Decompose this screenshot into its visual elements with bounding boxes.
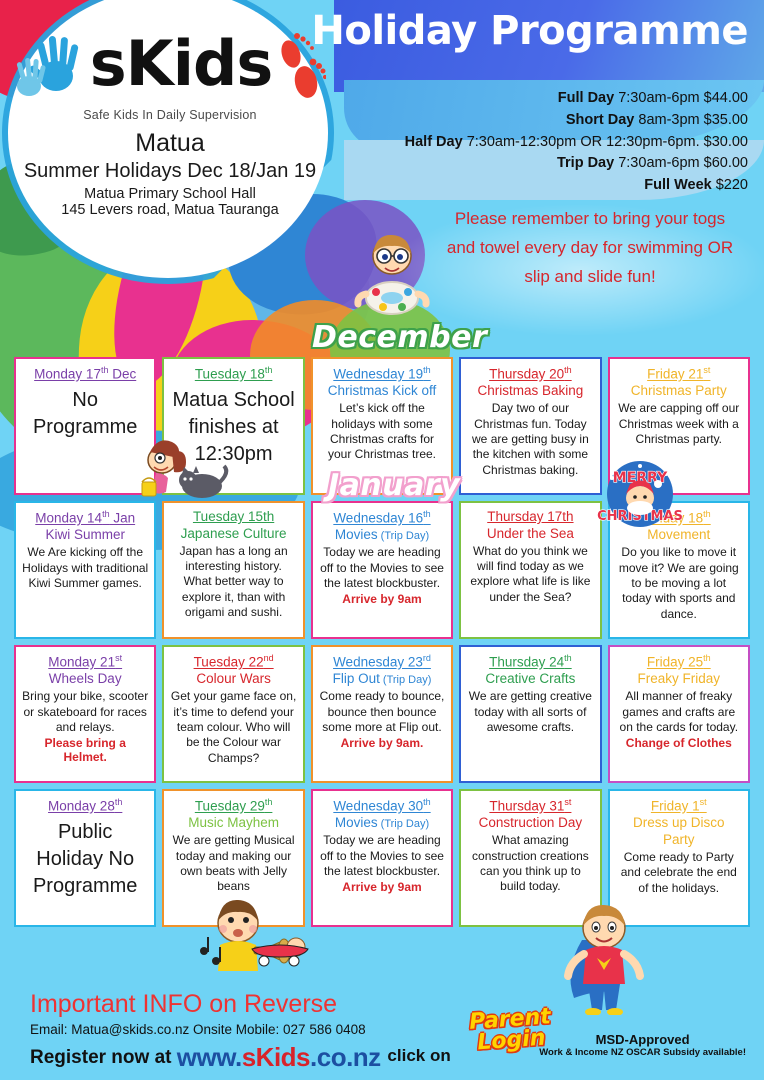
cell-activity-title: Colour Wars (170, 671, 296, 688)
season-line: Summer Holidays Dec 18/Jan 19 (0, 160, 340, 183)
cell-title-text: Christmas Baking (477, 383, 583, 398)
cell-description: We Are kicking off the Holidays with tra… (22, 545, 148, 591)
cell-description: All manner of freaky games and crafts ar… (616, 689, 742, 735)
cell-date-text: Tuesday 15th (193, 509, 274, 524)
price-label: Half Day (405, 134, 463, 150)
cell-title-text: Christmas Kick off (328, 383, 437, 398)
cell-date-text: Monday 28 (48, 799, 115, 814)
calendar-cell[interactable]: Tuesday 22ndColour WarsGet your game fac… (162, 645, 304, 783)
cell-activity-title: Kiwi Summer (22, 527, 148, 544)
cell-date: Friday 25th (616, 653, 742, 671)
cell-date-text: Wednesday 23 (333, 655, 423, 670)
cell-date-ordinal: th (265, 365, 273, 375)
cell-activity-title: Dress up Disco Party (616, 815, 742, 849)
contact-email-text: Email: Matua@skids.co.nz Onsite Mobile: … (30, 1022, 366, 1037)
cell-date-ordinal: nd (264, 653, 274, 663)
cell-date: Thursday 17th (467, 509, 593, 526)
cell-description: Come ready to bounce, bounce then bounce… (319, 689, 445, 735)
cell-date: Wednesday 19th (319, 365, 445, 383)
price-label: Full Week (644, 177, 711, 193)
cell-date-text: Wednesday 16 (333, 511, 423, 526)
price-list: Full Day 7:30am-6pm $44.00Short Day 8am-… (405, 88, 748, 197)
cell-description: Today we are heading off to the Movies t… (319, 833, 445, 879)
cell-title-text: Christmas Party (631, 383, 727, 398)
cell-date-ordinal: st (700, 797, 707, 807)
cell-title-text: Creative Crafts (485, 671, 575, 686)
cell-date-text: Tuesday 29 (195, 799, 265, 814)
msd-title: MSD-Approved (539, 1032, 746, 1047)
cell-date: Friday 21st (616, 365, 742, 383)
address-line-1: Matua Primary School Hall (0, 186, 340, 202)
cell-title-text: Dress up Disco Party (633, 815, 725, 847)
cell-date-ordinal: th (564, 653, 572, 663)
cell-date-ordinal: th (703, 509, 711, 519)
price-detail: 7:30am-6pm $44.00 (618, 90, 748, 106)
calendar-cell[interactable]: Friday 25thFreaky FridayAll manner of fr… (608, 645, 750, 783)
cell-description: Get your game face on, it’s time to defe… (170, 689, 296, 766)
cell-date-text: Friday 25 (647, 655, 703, 670)
price-row: Short Day 8am-3pm $35.00 (405, 110, 748, 132)
cell-activity-title: Movies (Trip Day) (319, 815, 445, 832)
cell-date-ordinal: th (115, 797, 123, 807)
cell-trip-day-tag: (Trip Day) (380, 674, 432, 686)
girl-with-cat-clipart (120, 430, 230, 505)
cell-date: Monday 14th Jan (22, 509, 148, 527)
cell-date-ordinal: th (564, 365, 572, 375)
cell-activity-title: Movies (Trip Day) (319, 527, 445, 544)
cell-activity-title: Creative Crafts (467, 671, 593, 688)
cell-description: Let’s kick off the holidays with some Ch… (319, 401, 445, 462)
cell-note: Arrive by 9am. (319, 736, 445, 750)
cell-date: Thursday 20th (467, 365, 593, 383)
cell-date-text: Monday 14 (35, 511, 102, 526)
cell-description: Japan has a long an interesting history.… (170, 544, 296, 621)
cell-date: Tuesday 22nd (170, 653, 296, 671)
calendar-cell[interactable]: Thursday 24thCreative CraftsWe are getti… (459, 645, 601, 783)
cell-trip-day-tag: (Trip Day) (378, 530, 430, 542)
website-link[interactable]: www.sKids.co.nz (177, 1042, 388, 1072)
calendar-cell[interactable]: Monday 28thPublic Holiday No Programme (14, 789, 156, 927)
cell-description: Public Holiday No Programme (22, 819, 148, 900)
price-label: Trip Day (557, 155, 614, 171)
cell-note: Arrive by 9am (319, 592, 445, 606)
cell-date-month: Dec (108, 367, 136, 382)
branch-name: Matua (0, 129, 340, 158)
cell-date: Tuesday 29th (170, 797, 296, 815)
msd-approved-badge: MSD-Approved Work & Income NZ OSCAR Subs… (539, 1032, 746, 1058)
price-label: Full Day (558, 90, 614, 106)
boy-swim-ring-clipart (352, 228, 432, 328)
cell-date: Friday 1st (616, 797, 742, 815)
cell-date-text: Monday 21 (48, 655, 115, 670)
cell-date-ordinal: rd (423, 653, 431, 663)
address-line-2: 145 Levers road, Matua Tauranga (0, 202, 340, 218)
cell-title-text: Wheels Day (49, 671, 122, 686)
cell-date-text: Wednesday 30 (333, 799, 423, 814)
price-row: Trip Day 7:30am-6pm $60.00 (405, 153, 748, 175)
url-www: www. (177, 1042, 242, 1072)
click-on-label: click on (387, 1046, 450, 1065)
price-detail: 8am-3pm $35.00 (638, 112, 748, 128)
price-detail: 7:30am-6pm $60.00 (618, 155, 748, 171)
price-row: Full Week $220 (405, 175, 748, 197)
cell-activity-title: Construction Day (467, 815, 593, 832)
price-label: Short Day (566, 112, 635, 128)
cell-date-text: Thursday 31 (489, 799, 564, 814)
cell-date: Thursday 31st (467, 797, 593, 815)
cell-activity-title: Japanese Culture (170, 526, 296, 543)
page-title: Holiday Programme (311, 8, 748, 54)
cell-activity-title: Under the Sea (467, 526, 593, 543)
cell-title-text: Colour Wars (196, 671, 271, 686)
cell-date-text: Thursday 20 (489, 367, 564, 382)
calendar-cell[interactable]: Tuesday 15thJapanese CultureJapan has a … (162, 501, 304, 639)
cell-activity-title: Christmas Kick off (319, 383, 445, 400)
register-label: Register now at (30, 1047, 171, 1068)
url-skids: sKids (242, 1042, 310, 1072)
price-detail: 7:30am-12:30pm OR 12:30pm-6pm. $30.00 (467, 134, 748, 150)
cell-activity-title: Christmas Party (616, 383, 742, 400)
cell-date-text: Monday 17 (34, 367, 101, 382)
cell-title-text: Freaky Friday (638, 671, 721, 686)
cell-description: Day two of our Christmas fun. Today we a… (467, 401, 593, 478)
cell-title-text: Kiwi Summer (45, 527, 125, 542)
cell-title-text: Music Mayhem (188, 815, 279, 830)
cell-date: Tuesday 15th (170, 509, 296, 526)
cell-date-text: Thursday 17th (487, 509, 573, 524)
superhero-kid-clipart (552, 900, 662, 1020)
cell-date-month: Jan (110, 511, 136, 526)
handprint-icon (14, 24, 88, 104)
cell-activity-title: Music Mayhem (170, 815, 296, 832)
msd-subtitle: Work & Income NZ OSCAR Subsidy available… (539, 1047, 746, 1058)
santa-merry-christmas-clipart: MERRY CHRISTMAS (596, 458, 684, 535)
cell-date: Wednesday 23rd (319, 653, 445, 671)
skateboard-clipart (248, 935, 312, 974)
cell-title-text: Movies (335, 815, 378, 830)
cell-date-text: Tuesday 22 (194, 655, 264, 670)
cell-date-text: Friday 21 (647, 367, 703, 382)
price-row: Half Day 7:30am-12:30pm OR 12:30pm-6pm. … (405, 132, 748, 154)
cell-date-ordinal: st (703, 365, 710, 375)
url-co-nz: .co.nz (310, 1042, 381, 1072)
logo-block: sKids Safe Kids In Daily Supervision Mat… (0, 0, 340, 218)
cell-date-text: Thursday 24 (489, 655, 564, 670)
cell-note: Arrive by 9am (319, 880, 445, 894)
cell-description: We are getting creative today with all s… (467, 689, 593, 735)
cell-title-text: Under the Sea (487, 526, 574, 541)
reminder-note: Please remember to bring your togs and t… (440, 205, 740, 292)
price-row: Full Day 7:30am-6pm $44.00 (405, 88, 748, 110)
month-label-january: January (328, 468, 460, 503)
calendar-cell[interactable]: Thursday 20thChristmas BakingDay two of … (459, 357, 601, 495)
cell-activity-title: Christmas Baking (467, 383, 593, 400)
important-info-text: Important INFO on Reverse (30, 990, 337, 1019)
cell-date: Monday 21st (22, 653, 148, 671)
cell-date-ordinal: th (423, 365, 431, 375)
logo-row: sKids (0, 16, 340, 112)
skids-wordmark: sKids (90, 33, 272, 95)
calendar-cell[interactable]: Thursday 17thUnder the SeaWhat do you th… (459, 501, 601, 639)
calendar-cell[interactable]: Monday 14th JanKiwi SummerWe Are kicking… (14, 501, 156, 639)
cell-note: Please bring a Helmet. (22, 736, 148, 764)
cell-title-text: Construction Day (479, 815, 583, 830)
cell-date: Monday 17th Dec (22, 365, 148, 383)
cell-activity-title: Wheels Day (22, 671, 148, 688)
cell-activity-title: Freaky Friday (616, 671, 742, 688)
cell-date-ordinal: th (102, 509, 110, 519)
cell-description: Bring your bike, scooter or skateboard f… (22, 689, 148, 735)
cell-description: What do you think we will find today as … (467, 544, 593, 605)
cell-description: We are capping off our Christmas week wi… (616, 401, 742, 447)
cell-date: Wednesday 16th (319, 509, 445, 527)
cell-title-text: Movies (335, 527, 378, 542)
cell-description: What amazing construction creations can … (467, 833, 593, 894)
cell-description: We are getting Musical today and making … (170, 833, 296, 894)
cell-date: Thursday 24th (467, 653, 593, 671)
calendar-cell[interactable]: Wednesday 30thMovies (Trip Day)Today we … (311, 789, 453, 927)
price-detail: $220 (716, 177, 748, 193)
cell-date-text: Friday 1 (651, 799, 700, 814)
cell-trip-day-tag: (Trip Day) (378, 818, 430, 830)
cell-date: Monday 28th (22, 797, 148, 815)
cell-date-text: Wednesday 19 (333, 367, 423, 382)
cell-date: Wednesday 30th (319, 797, 445, 815)
cell-description: Today we are heading off to the Movies t… (319, 545, 445, 591)
cell-date-ordinal: th (423, 509, 431, 519)
cell-date-ordinal: st (564, 797, 571, 807)
cell-title-text: Flip Out (333, 671, 380, 686)
cell-date-ordinal: th (265, 797, 273, 807)
calendar-cell[interactable]: Wednesday 23rdFlip Out (Trip Day)Come re… (311, 645, 453, 783)
cell-note: Change of Clothes (616, 736, 742, 750)
cell-date-ordinal: th (423, 797, 431, 807)
cell-activity-title: Flip Out (Trip Day) (319, 671, 445, 688)
cell-title-text: Japanese Culture (181, 526, 287, 541)
cell-date-ordinal: st (115, 653, 122, 663)
calendar-cell[interactable]: Wednesday 16thMovies (Trip Day)Today we … (311, 501, 453, 639)
calendar-cell[interactable]: Monday 21stWheels DayBring your bike, sc… (14, 645, 156, 783)
cell-description: Do you like to move it move it? We are g… (616, 545, 742, 622)
cell-date-text: Tuesday 18 (195, 367, 265, 382)
cell-date-ordinal: th (703, 653, 711, 663)
register-line: Register now at www.sKids.co.nz click on (30, 1042, 451, 1073)
cell-date: Tuesday 18th (170, 365, 296, 383)
cell-description: Come ready to Party and celebrate the en… (616, 850, 742, 896)
